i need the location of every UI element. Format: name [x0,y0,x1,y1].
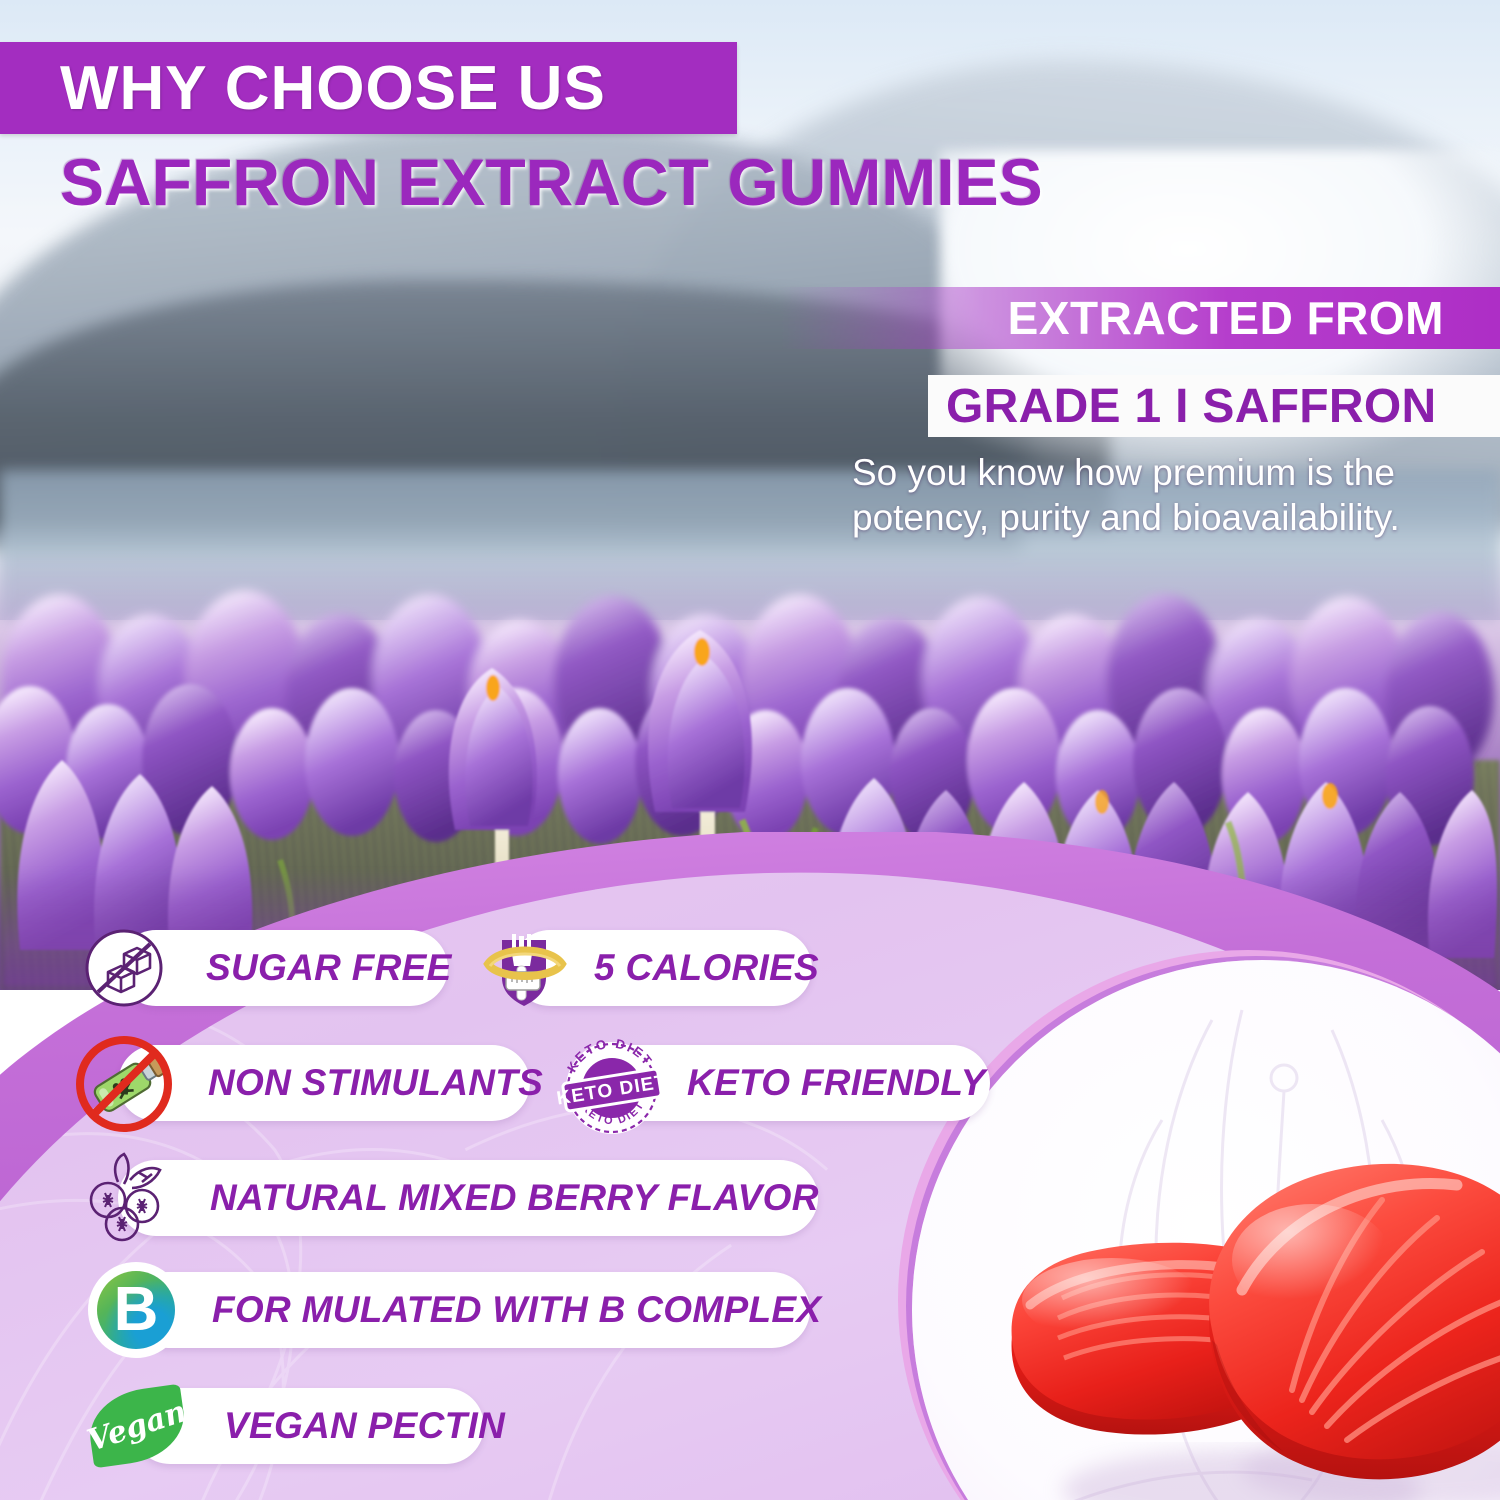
product-infographic: WHY CHOOSE US SAFFRON EXTRACT GUMMIES EX… [0,0,1500,1500]
why-choose-us-banner: WHY CHOOSE US [0,42,737,134]
vegan-leaf-icon: Vegan [82,1383,192,1469]
feature-pill-berry-flavor[interactable]: NATURAL MIXED BERRY FLAVOR [118,1160,818,1236]
feature-label-sugar-free: SUGAR FREE [206,947,452,989]
calories-shield-icon [476,920,572,1016]
product-image-circle [912,960,1500,1500]
description-line-1: So you know how premium is the [852,452,1395,493]
feature-label-berry-flavor: NATURAL MIXED BERRY FLAVOR [210,1177,819,1219]
feature-pill-b-complex[interactable]: FOR MULATED WITH B COMPLEX [130,1272,810,1348]
extracted-from-label: EXTRACTED FROM [1008,291,1500,345]
description-line-2: potency, purity and bioavailability. [852,495,1500,540]
feature-label-5-calories: 5 CALORIES [594,947,819,989]
extracted-from-description: So you know how premium is the potency, … [852,450,1500,540]
berries-icon [78,1148,178,1248]
b-complex-circle: B [97,1271,175,1349]
grade-bar: GRADE 1 I SAFFRON [928,375,1500,437]
no-sugar-icon [78,922,170,1014]
b-complex-letter: B [114,1279,159,1341]
feature-label-keto-friendly: KETO FRIENDLY [687,1062,986,1104]
gummy-candies [912,960,1500,1500]
page-title: SAFFRON EXTRACT GUMMIES [60,144,1043,220]
feature-label-non-stimulants: NON STIMULANTS [208,1062,543,1104]
grade-label: GRADE 1 I SAFFRON [928,379,1436,434]
vegan-badge-text: Vegan [83,1394,191,1459]
extracted-from-band: EXTRACTED FROM [780,287,1500,349]
feature-pill-non-stimulants[interactable]: NON STIMULANTS [118,1045,530,1121]
feature-label-b-complex: FOR MULATED WITH B COMPLEX [212,1289,821,1331]
vegan-leaf-shape: Vegan [84,1384,189,1469]
why-choose-us-label: WHY CHOOSE US [0,53,606,124]
b-complex-icon: B [88,1262,184,1358]
feature-label-vegan-pectin: VEGAN PECTIN [224,1405,505,1447]
keto-diet-stamp-icon: KETO DIET KETO DIET KETO DIET [556,1032,668,1144]
no-stimulants-icon [72,1032,176,1136]
